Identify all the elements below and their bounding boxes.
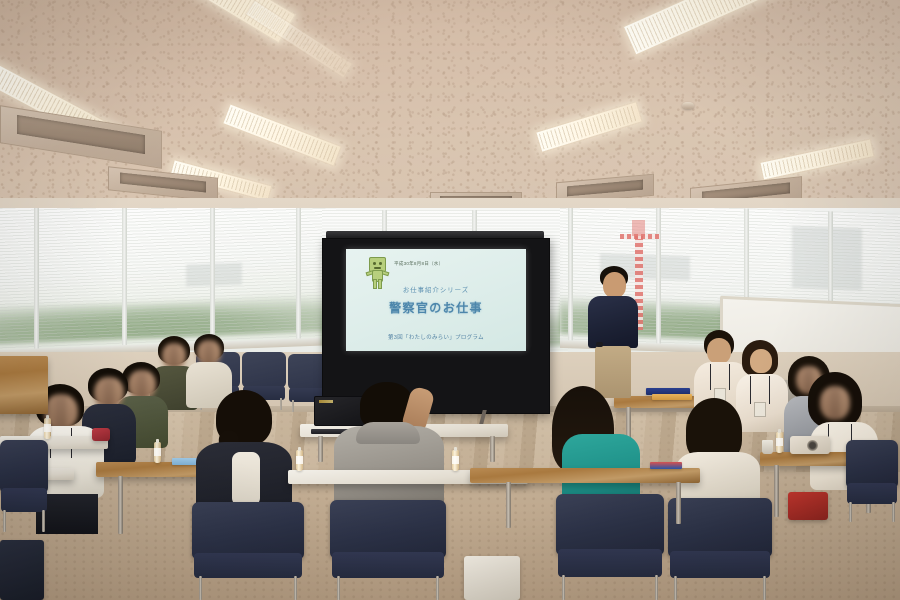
table-leg <box>676 482 681 524</box>
face <box>603 272 626 298</box>
lanyard <box>710 364 730 390</box>
chair[interactable] <box>330 500 446 600</box>
mascot-character-icon <box>368 257 388 287</box>
chair[interactable] <box>192 502 304 600</box>
presentation-slide: 平成30年8月8日（水） お仕事紹介シリーズ 警察官のお仕事 第3回「わたしのみ… <box>346 249 526 351</box>
table-leg <box>774 465 779 517</box>
drink-bottle[interactable] <box>154 442 161 463</box>
hood <box>356 422 420 444</box>
camera-case[interactable] <box>790 436 830 454</box>
presenter-person <box>588 266 638 398</box>
slide-footer: 第3回「わたしのみらい」プログラム <box>346 333 526 341</box>
drink-bottle[interactable] <box>44 418 51 439</box>
table <box>0 356 48 414</box>
drink-bottle[interactable] <box>452 450 459 471</box>
window-mullion <box>34 208 39 357</box>
pouch[interactable] <box>92 428 110 441</box>
face <box>750 349 772 373</box>
table-leg <box>318 436 323 462</box>
table-leg <box>490 436 495 462</box>
ceiling <box>0 0 900 215</box>
blouse-lace-panel <box>232 452 260 506</box>
backpack[interactable] <box>464 556 520 600</box>
table <box>470 468 700 483</box>
chair[interactable] <box>556 494 664 600</box>
table-leg <box>118 476 123 534</box>
participant-person <box>334 382 444 508</box>
chair[interactable] <box>0 440 48 532</box>
slide-series-label: お仕事紹介シリーズ <box>346 285 526 294</box>
window-mullion <box>122 208 127 353</box>
smoke-detector-icon <box>682 102 694 109</box>
drink-bottle[interactable] <box>296 450 303 471</box>
window-mullion <box>296 208 301 346</box>
chair[interactable] <box>846 440 898 522</box>
window-mullion <box>210 208 215 350</box>
participant-person <box>196 390 292 510</box>
window-mullion <box>568 208 573 348</box>
slide-title: 警察官のお仕事 <box>346 299 526 316</box>
presenter-shirt <box>588 296 638 348</box>
chair[interactable] <box>668 498 772 600</box>
paper-cup[interactable] <box>762 440 773 454</box>
seminar-room-photo: 平成30年8月8日（水） お仕事紹介シリーズ 警察官のお仕事 第3回「わたしのみ… <box>0 0 900 600</box>
table-leg <box>506 482 511 528</box>
camera-lens-icon <box>807 440 818 451</box>
slide-date: 平成30年8月8日（水） <box>394 261 443 267</box>
blurred-face <box>820 386 850 420</box>
participant-person <box>548 386 640 510</box>
tote-bag[interactable] <box>0 540 44 600</box>
handbag[interactable] <box>788 492 828 520</box>
drink-bottle[interactable] <box>776 432 783 453</box>
face <box>707 338 731 364</box>
wristwatch <box>596 342 603 347</box>
document[interactable] <box>650 462 682 469</box>
